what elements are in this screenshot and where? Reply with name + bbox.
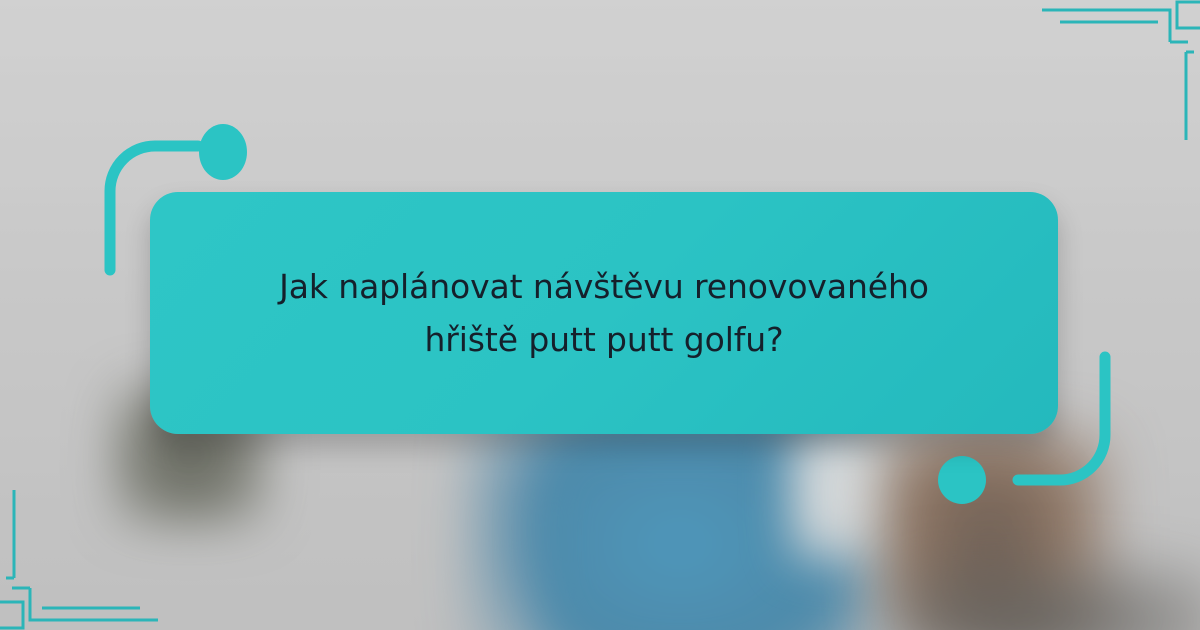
quote-card: Jak naplánovat návštěvu renovovaného hři…: [150, 192, 1058, 434]
quote-card-question: Jak naplánovat návštěvu renovovaného hři…: [244, 260, 964, 367]
share-card-canvas: Jak naplánovat návštěvu renovovaného hři…: [0, 0, 1200, 630]
